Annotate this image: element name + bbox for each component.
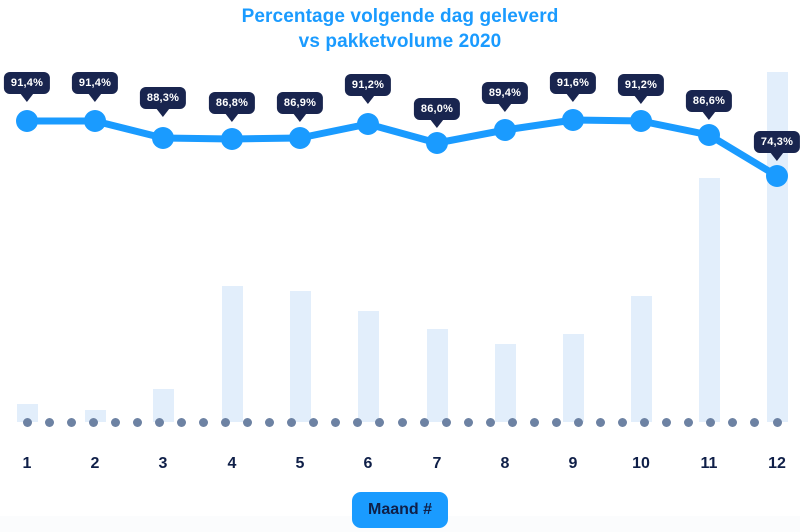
data-label-tooltip: 86,6%	[686, 90, 732, 112]
x-axis-tick-label: 12	[768, 455, 786, 473]
data-label-tooltip: 74,3%	[754, 131, 800, 153]
plot-area: 91,4%91,4%88,3%86,8%86,9%91,2%86,0%89,4%…	[0, 0, 800, 445]
data-label-tooltip: 91,4%	[72, 72, 118, 94]
x-axis-tick-label: 10	[632, 455, 650, 473]
data-point[interactable]	[698, 124, 720, 146]
data-label-tooltip: 91,2%	[345, 74, 391, 96]
data-label-tooltip: 91,4%	[4, 72, 50, 94]
data-label-tooltip: 88,3%	[140, 87, 186, 109]
x-axis-tick-label: 1	[23, 455, 32, 473]
data-point[interactable]	[152, 127, 174, 149]
x-axis-tick-label: 3	[159, 455, 168, 473]
data-label-tooltip: 86,8%	[209, 92, 255, 114]
data-label-tooltip: 86,9%	[277, 92, 323, 114]
data-label-tooltip: 91,6%	[550, 72, 596, 94]
data-point[interactable]	[766, 165, 788, 187]
x-axis-tick-label: 5	[296, 455, 305, 473]
data-label-layer: 91,4%91,4%88,3%86,8%86,9%91,2%86,0%89,4%…	[0, 0, 800, 445]
x-axis-tick-label: 6	[364, 455, 373, 473]
x-axis-tick-label: 2	[91, 455, 100, 473]
data-point[interactable]	[562, 109, 584, 131]
data-point[interactable]	[221, 128, 243, 150]
data-label-tooltip: 86,0%	[414, 98, 460, 120]
data-label-tooltip: 91,2%	[618, 74, 664, 96]
x-axis-title-badge: Maand #	[352, 492, 448, 528]
x-axis-tick-label: 4	[228, 455, 237, 473]
x-axis-tick-label: 8	[501, 455, 510, 473]
data-point[interactable]	[630, 110, 652, 132]
data-point[interactable]	[357, 113, 379, 135]
data-point[interactable]	[494, 119, 516, 141]
data-point[interactable]	[426, 132, 448, 154]
chart-page: Percentage volgende dag geleverd vs pakk…	[0, 0, 800, 532]
x-axis-tick-label: 11	[701, 455, 718, 473]
data-label-tooltip: 89,4%	[482, 82, 528, 104]
data-point[interactable]	[289, 127, 311, 149]
x-axis-tick-label: 7	[433, 455, 442, 473]
data-point[interactable]	[16, 110, 38, 132]
data-point[interactable]	[84, 110, 106, 132]
x-axis-tick-label: 9	[569, 455, 578, 473]
